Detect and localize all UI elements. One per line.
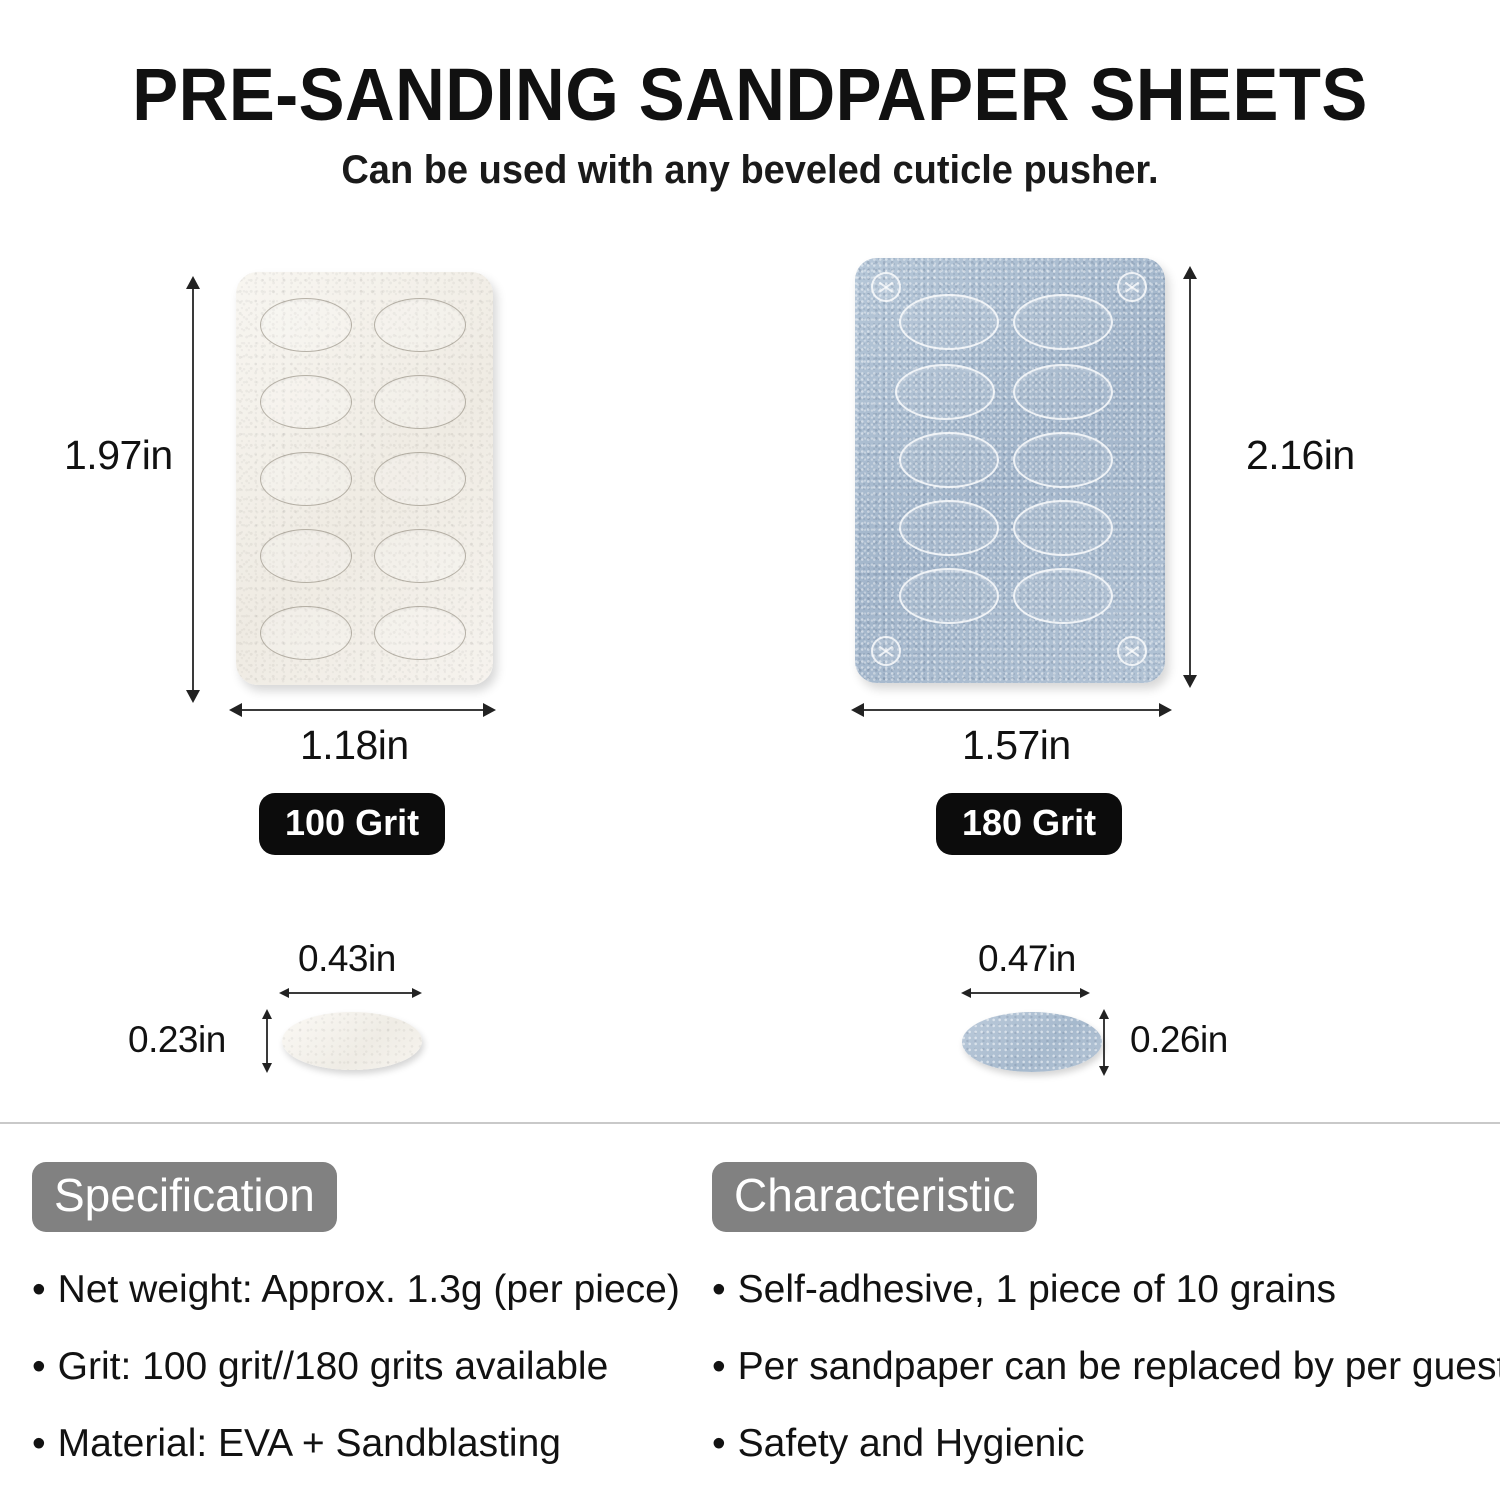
arrow-head-up [1183,266,1197,279]
list-item-text: Net weight: Approx. 1.3g (per piece) [58,1268,680,1311]
bullet-icon: • [712,1422,726,1465]
arrow-head-right [1080,988,1090,998]
oval-cutout [374,529,466,583]
list-item-text: Grit: 100 grit//180 grits available [58,1345,609,1388]
arrow-head-up [186,276,200,289]
oval-cutout [374,298,466,352]
dimension-label-sheet-height: 2.16in [1246,432,1355,479]
page-title: PRE-SANDING SANDPAPER SHEETS [53,52,1448,137]
dimension-label-piece-width: 0.43in [298,938,396,980]
specification-section: Specification •Net weight: Approx. 1.3g … [32,1162,692,1499]
oval-cutout [1013,500,1113,556]
dimension-label-piece-width: 0.47in [978,938,1076,980]
dimension-line-horizontal [240,709,486,711]
arrow-head-right [1159,703,1172,717]
bullet-icon: • [32,1422,46,1465]
arrow-head-down [262,1063,272,1073]
piece-dimension-line-vertical [1103,1017,1105,1069]
list-item-text: Per sandpaper can be replaced by per gue… [738,1345,1500,1388]
dimension-line-vertical [192,288,194,693]
list-item-text: Self-adhesive, 1 piece of 10 grains [738,1268,1336,1311]
bullet-icon: • [32,1345,46,1388]
arrow-head-down [186,690,200,703]
arrow-head-down [1183,675,1197,688]
arrow-head-up [262,1009,272,1019]
oval-cutout [899,500,999,556]
oval-cutout [1013,432,1113,488]
dimension-label-piece-height: 0.26in [1130,1019,1228,1061]
oval-cutout [260,452,352,506]
characteristic-section: Characteristic •Self-adhesive, 1 piece o… [712,1162,1492,1499]
dimension-label-sheet-height: 1.97in [64,432,173,479]
list-item-text: Safety and Hygienic [738,1422,1085,1465]
list-item-text: Material: EVA + Sandblasting [58,1422,561,1465]
characteristic-heading: Characteristic [712,1162,1037,1232]
grit-badge-180: 180 Grit [936,793,1122,855]
page-subtitle: Can be used with any beveled cuticle pus… [38,148,1463,193]
oval-cutout [374,375,466,429]
sandpaper-sheet-white [236,272,493,685]
infographic-page: PRE-SANDING SANDPAPER SHEETS Can be used… [0,0,1500,1500]
oval-cutout [899,568,999,624]
oval-cutout [260,298,352,352]
oval-cutout [374,452,466,506]
single-piece-white [282,1012,422,1070]
corner-dot-icon [1117,636,1147,666]
oval-cutout [374,606,466,660]
single-piece-blue [962,1012,1102,1072]
specification-bullet-list: •Net weight: Approx. 1.3g (per piece) •G… [32,1268,692,1467]
oval-grid-blue [855,258,1165,683]
section-divider [0,1122,1500,1124]
oval-cutout [260,606,352,660]
dimension-label-piece-height: 0.23in [128,1019,226,1061]
oval-cutout [895,364,995,420]
list-item: •Self-adhesive, 1 piece of 10 grains [712,1268,1492,1313]
arrow-head-down [1099,1066,1109,1076]
bullet-icon: • [32,1268,46,1311]
list-item: •Grit: 100 grit//180 grits available [32,1345,692,1390]
oval-cutout [899,432,999,488]
corner-dot-icon [871,272,901,302]
dimension-line-vertical [1189,278,1191,678]
oval-grid-white [236,272,493,685]
piece-dimension-line-horizontal [287,992,415,994]
bullet-icon: • [712,1345,726,1388]
piece-dimension-line-horizontal [969,992,1083,994]
piece-dimension-line-vertical [266,1017,268,1066]
arrow-head-left [961,988,971,998]
list-item: •Per sandpaper can be replaced by per gu… [712,1345,1492,1390]
characteristic-bullet-list: •Self-adhesive, 1 piece of 10 grains •Pe… [712,1268,1492,1467]
list-item: •Material: EVA + Sandblasting [32,1422,692,1467]
arrow-head-right [483,703,496,717]
dimension-line-horizontal [862,709,1162,711]
grit-badge-100: 100 Grit [259,793,445,855]
bullet-icon: • [712,1268,726,1311]
list-item: •Safety and Hygienic [712,1422,1492,1467]
list-item: •Net weight: Approx. 1.3g (per piece) [32,1268,692,1313]
specification-heading: Specification [32,1162,337,1232]
oval-cutout [260,375,352,429]
arrow-head-right [412,988,422,998]
corner-dot-icon [1117,272,1147,302]
arrow-head-left [851,703,864,717]
dimension-label-sheet-width: 1.18in [300,722,409,769]
oval-cutout [899,294,999,350]
oval-cutout [260,529,352,583]
oval-cutout [1013,364,1113,420]
sandpaper-sheet-blue [855,258,1165,683]
oval-cutout [1013,568,1113,624]
arrow-head-left [279,988,289,998]
oval-cutout [1013,294,1113,350]
corner-dot-icon [871,636,901,666]
dimension-label-sheet-width: 1.57in [962,722,1071,769]
arrow-head-left [229,703,242,717]
arrow-head-up [1099,1009,1109,1019]
